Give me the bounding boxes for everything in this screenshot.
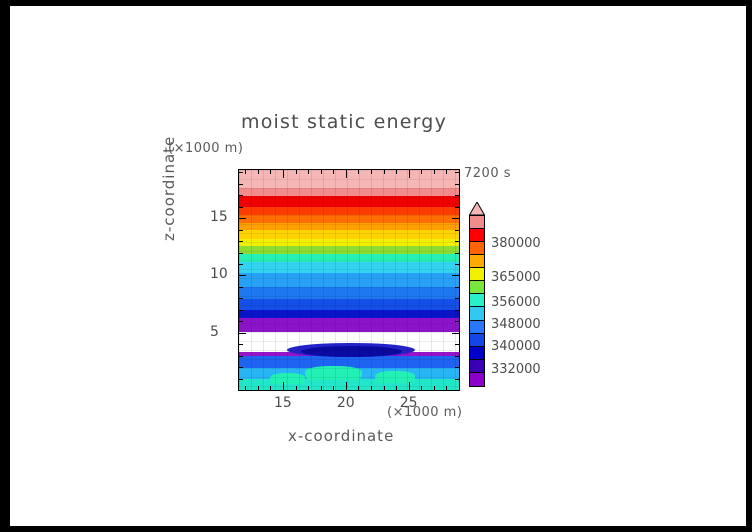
x-axis-minor-tick (296, 170, 297, 174)
figure-window: moist static energy (×1000 m) 7200 s z-c… (0, 0, 752, 532)
surface-plume (270, 373, 305, 384)
y-axis-minor-tick (239, 367, 243, 368)
colorbar-cell (470, 360, 484, 373)
x-axis-minor-tick (459, 170, 460, 174)
y-axis-minor-tick (239, 172, 243, 173)
colorbar-cell (470, 281, 484, 294)
colorbar-cell (470, 216, 484, 229)
x-axis-tick (409, 170, 410, 178)
y-axis-tick (239, 333, 246, 334)
y-axis-tick-label: 15 (210, 209, 228, 225)
x-axis-tick-label: 25 (400, 395, 418, 411)
x-axis-tick-label: 20 (337, 395, 355, 411)
contour-plot-area (238, 169, 460, 391)
y-axis-minor-tick (455, 390, 459, 391)
y-axis-minor-tick (239, 253, 243, 254)
colorbar-extend-arrow-icon (469, 202, 485, 216)
x-axis-minor-tick (333, 386, 334, 390)
y-axis-minor-tick (239, 241, 243, 242)
x-axis-minor-tick (446, 386, 447, 390)
x-axis-minor-tick (384, 170, 385, 174)
y-axis-minor-tick (455, 230, 459, 231)
x-axis-minor-tick (371, 386, 372, 390)
x-axis-minor-tick (333, 170, 334, 174)
colorbar-cell (470, 347, 484, 360)
contour-band (239, 246, 459, 254)
x-axis-minor-tick (371, 170, 372, 174)
x-axis-minor-tick (421, 170, 422, 174)
y-axis-minor-tick (455, 287, 459, 288)
contour-band (239, 230, 459, 239)
contour-band (239, 318, 459, 332)
y-axis-minor-tick (239, 321, 243, 322)
colorbar-cell (470, 294, 484, 307)
colorbar-tick-label: 365000 (491, 270, 541, 285)
x-axis-minor-tick (245, 170, 246, 174)
contour-band (239, 196, 459, 206)
x-axis-minor-tick (270, 170, 271, 174)
y-axis-title: z-coordinate (160, 121, 178, 241)
x-axis-tick (346, 170, 347, 178)
y-axis-tick (452, 218, 459, 219)
contour-band (239, 215, 459, 223)
surface-plume (305, 366, 362, 380)
x-axis-minor-tick (358, 386, 359, 390)
x-axis-tick (283, 170, 284, 178)
y-axis-tick-label: 10 (210, 266, 228, 282)
colorbar-tick-label: 348000 (491, 317, 541, 332)
plot-canvas: moist static energy (×1000 m) 7200 s z-c… (10, 6, 746, 526)
contour-band (239, 310, 459, 318)
contour-band (239, 170, 459, 188)
x-axis-minor-tick (245, 386, 246, 390)
x-axis-tick (409, 382, 410, 390)
colorbar-cell (470, 334, 484, 347)
y-axis-minor-tick (239, 379, 243, 380)
y-axis-minor-tick (455, 241, 459, 242)
x-axis-minor-tick (446, 170, 447, 174)
y-axis-minor-tick (239, 356, 243, 357)
colorbar-cell (470, 242, 484, 255)
y-axis-minor-tick (239, 390, 243, 391)
y-axis-minor-tick (239, 230, 243, 231)
x-axis-minor-tick (321, 386, 322, 390)
y-axis-minor-tick (239, 195, 243, 196)
x-axis-minor-tick (459, 386, 460, 390)
y-axis-minor-tick (455, 207, 459, 208)
x-axis-minor-tick (296, 386, 297, 390)
x-axis-tick (346, 382, 347, 390)
colorbar-cell (470, 255, 484, 268)
colorbar-cell (470, 229, 484, 242)
contour-bands (239, 170, 459, 390)
y-axis-minor-tick (455, 298, 459, 299)
x-axis-minor-tick (270, 386, 271, 390)
x-axis-minor-tick (358, 170, 359, 174)
contour-band (239, 239, 459, 246)
x-axis-minor-tick (308, 170, 309, 174)
y-axis-minor-tick (455, 195, 459, 196)
y-axis-minor-tick (239, 344, 243, 345)
y-axis-minor-tick (455, 310, 459, 311)
y-axis-tick (239, 218, 246, 219)
y-axis-minor-tick (239, 184, 243, 185)
cold-lens-core (301, 346, 402, 357)
contour-band (239, 207, 459, 215)
y-axis-tick (452, 275, 459, 276)
contour-band (239, 254, 459, 262)
colorbar-cell (470, 307, 484, 320)
x-axis-units-label: (×1000 m) (387, 405, 462, 420)
time-annotation: 7200 s (464, 166, 511, 181)
colorbar-cell (470, 268, 484, 281)
y-axis-tick (452, 333, 459, 334)
y-axis-minor-tick (239, 287, 243, 288)
y-axis-minor-tick (455, 356, 459, 357)
contour-band (239, 287, 459, 300)
x-axis-minor-tick (434, 386, 435, 390)
y-axis-minor-tick (455, 253, 459, 254)
x-axis-minor-tick (321, 170, 322, 174)
colorbar-tick-label: 332000 (491, 362, 541, 377)
contour-band (239, 299, 459, 309)
page-title: moist static energy (241, 111, 447, 133)
y-axis-minor-tick (455, 344, 459, 345)
y-axis-minor-tick (455, 367, 459, 368)
x-axis-minor-tick (258, 386, 259, 390)
y-axis-tick (239, 275, 246, 276)
colorbar-cell (470, 373, 484, 386)
x-axis-tick (283, 382, 284, 390)
x-axis-minor-tick (384, 386, 385, 390)
y-axis-minor-tick (455, 321, 459, 322)
x-axis-title: x-coordinate (288, 427, 394, 445)
colorbar (469, 215, 485, 387)
y-axis-minor-tick (239, 207, 243, 208)
x-axis-minor-tick (421, 386, 422, 390)
colorbar-tick-label: 356000 (491, 295, 541, 310)
x-axis-minor-tick (396, 386, 397, 390)
colorbar-cell (470, 321, 484, 334)
y-axis-minor-tick (239, 264, 243, 265)
x-axis-tick-label: 15 (274, 395, 292, 411)
contour-band (239, 188, 459, 196)
x-axis-minor-tick (258, 170, 259, 174)
contour-band (239, 223, 459, 230)
y-axis-minor-tick (455, 264, 459, 265)
z-axis-units-label: (×1000 m) (168, 141, 243, 156)
y-axis-minor-tick (239, 310, 243, 311)
contour-band (239, 273, 459, 287)
y-axis-minor-tick (455, 379, 459, 380)
x-axis-minor-tick (308, 386, 309, 390)
colorbar-tick-label: 340000 (491, 339, 541, 354)
x-axis-minor-tick (434, 170, 435, 174)
colorbar-tick-label: 380000 (491, 236, 541, 251)
y-axis-minor-tick (455, 184, 459, 185)
y-axis-tick-label: 5 (210, 324, 219, 340)
x-axis-minor-tick (396, 170, 397, 174)
y-axis-minor-tick (239, 298, 243, 299)
contour-band (239, 262, 459, 273)
